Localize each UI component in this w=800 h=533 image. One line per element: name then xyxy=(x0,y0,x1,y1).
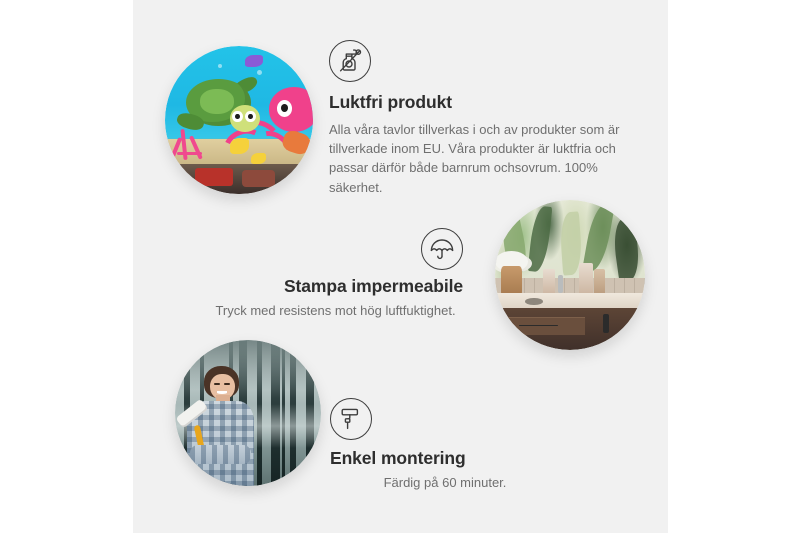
bottle xyxy=(543,269,555,296)
feature-title: Luktfri produkt xyxy=(329,92,629,114)
feature-waterproof-print: Stampa impermeabile Tryck med resistens … xyxy=(208,228,463,320)
umbrella-icon xyxy=(421,228,463,270)
image-woman-paint-roller xyxy=(175,340,321,486)
soap-dish xyxy=(525,298,543,306)
octopus xyxy=(269,87,313,131)
feature-title: Stampa impermeabile xyxy=(208,276,463,298)
feature-body: Tryck med resistens mot hög luftfuktighe… xyxy=(208,301,463,320)
no-fragrance-icon xyxy=(329,40,371,82)
content-panel: Luktfri produkt Alla våra tavlor tillver… xyxy=(133,0,668,533)
vanity-cabinet xyxy=(495,308,645,350)
yellow-fish xyxy=(251,153,266,165)
image-bathroom-botanical xyxy=(495,200,645,350)
product-feature-infographic: Luktfri produkt Alla våra tavlor tillver… xyxy=(0,0,800,533)
room-foreground xyxy=(165,164,313,194)
feature-odour-free: Luktfri produkt Alla våra tavlor tillver… xyxy=(329,40,629,197)
bubble-decor xyxy=(257,70,262,75)
bottle xyxy=(594,269,605,296)
feature-title: Enkel montering xyxy=(330,448,560,470)
turtle-head xyxy=(230,105,260,132)
feature-body: Alla våra tavlor tillverkas i och av pro… xyxy=(329,120,629,197)
feature-easy-mounting: Enkel montering Färdig på 60 minuter. xyxy=(330,398,560,492)
faucet xyxy=(558,275,563,293)
bottle xyxy=(579,263,593,296)
feature-body: Färdig på 60 minuter. xyxy=(330,473,560,492)
person-arms xyxy=(190,445,251,464)
paint-roller-icon xyxy=(330,398,372,440)
purple-fish xyxy=(245,55,263,67)
coral xyxy=(171,129,215,167)
image-underwater-scene xyxy=(165,46,313,194)
